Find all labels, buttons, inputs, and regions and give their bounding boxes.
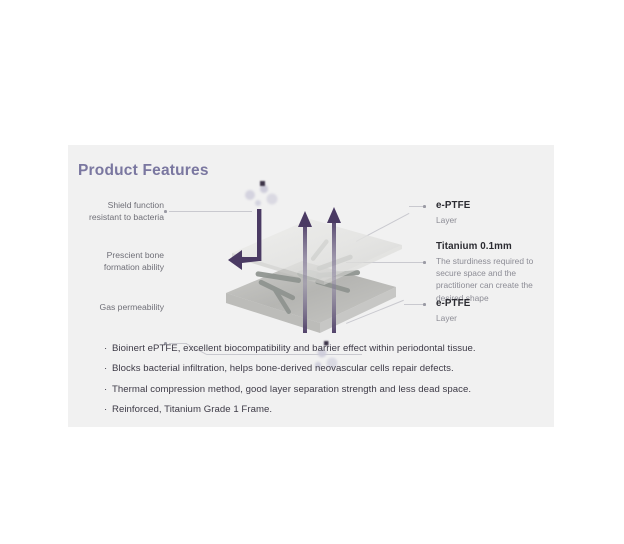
bacteria-cluster-top [245,185,278,206]
callout-bone-line1: Prescient bone [104,249,164,261]
blocked-bacteria-arrow [228,209,261,270]
callout-eptfe-bottom: e-PTFE Layer [436,298,470,324]
bullet-text: Bioinert ePTFE, excellent biocompatibili… [112,343,476,355]
callout-bone-line2: formation ability [104,261,164,273]
bullet-marker: · [104,404,112,416]
callout-titanium-title: Titanium 0.1mm [436,241,548,252]
bullet-text: Blocks bacterial infiltration, helps bon… [112,363,454,375]
callout-eptfe-top-title: e-PTFE [436,200,470,211]
feature-bullet-list: · Bioinert ePTFE, excellent biocompatibi… [104,343,544,425]
bullet-text: Thermal compression method, good layer s… [112,384,471,396]
callout-label-shield-function: Shield function resistant to bacteria [89,199,164,223]
callout-eptfe-bottom-subtitle: Layer [436,312,470,324]
callout-eptfe-bottom-title: e-PTFE [436,298,470,309]
callout-titanium: Titanium 0.1mm The sturdiness required t… [436,241,548,304]
bullet-marker: · [104,343,112,355]
product-features-card: Product Features Shield function resista… [68,145,554,427]
callout-titanium-subtitle: The sturdiness required to secure space … [436,255,548,304]
list-item: · Thermal compression method, good layer… [104,384,544,396]
connector-dot-shield [164,210,167,213]
bullet-marker: · [104,363,112,375]
callout-shield-line2: resistant to bacteria [89,211,164,223]
callout-gas-line1: Gas permeability [100,301,164,313]
list-item: · Bioinert ePTFE, excellent biocompatibi… [104,343,544,355]
page-title: Product Features [78,162,209,180]
list-item: · Blocks bacterial infiltration, helps b… [104,363,544,375]
bullet-marker: · [104,384,112,396]
page-root: Product Features Shield function resista… [0,0,624,544]
callout-label-gas-permeability: Gas permeability [100,301,164,313]
list-item: · Reinforced, Titanium Grade 1 Frame. [104,404,544,416]
callout-eptfe-top: e-PTFE Layer [436,200,470,226]
callout-label-bone-formation: Prescient bone formation ability [104,249,164,273]
callout-shield-line1: Shield function [89,199,164,211]
bullet-text: Reinforced, Titanium Grade 1 Frame. [112,404,272,416]
callout-eptfe-top-subtitle: Layer [436,214,470,226]
